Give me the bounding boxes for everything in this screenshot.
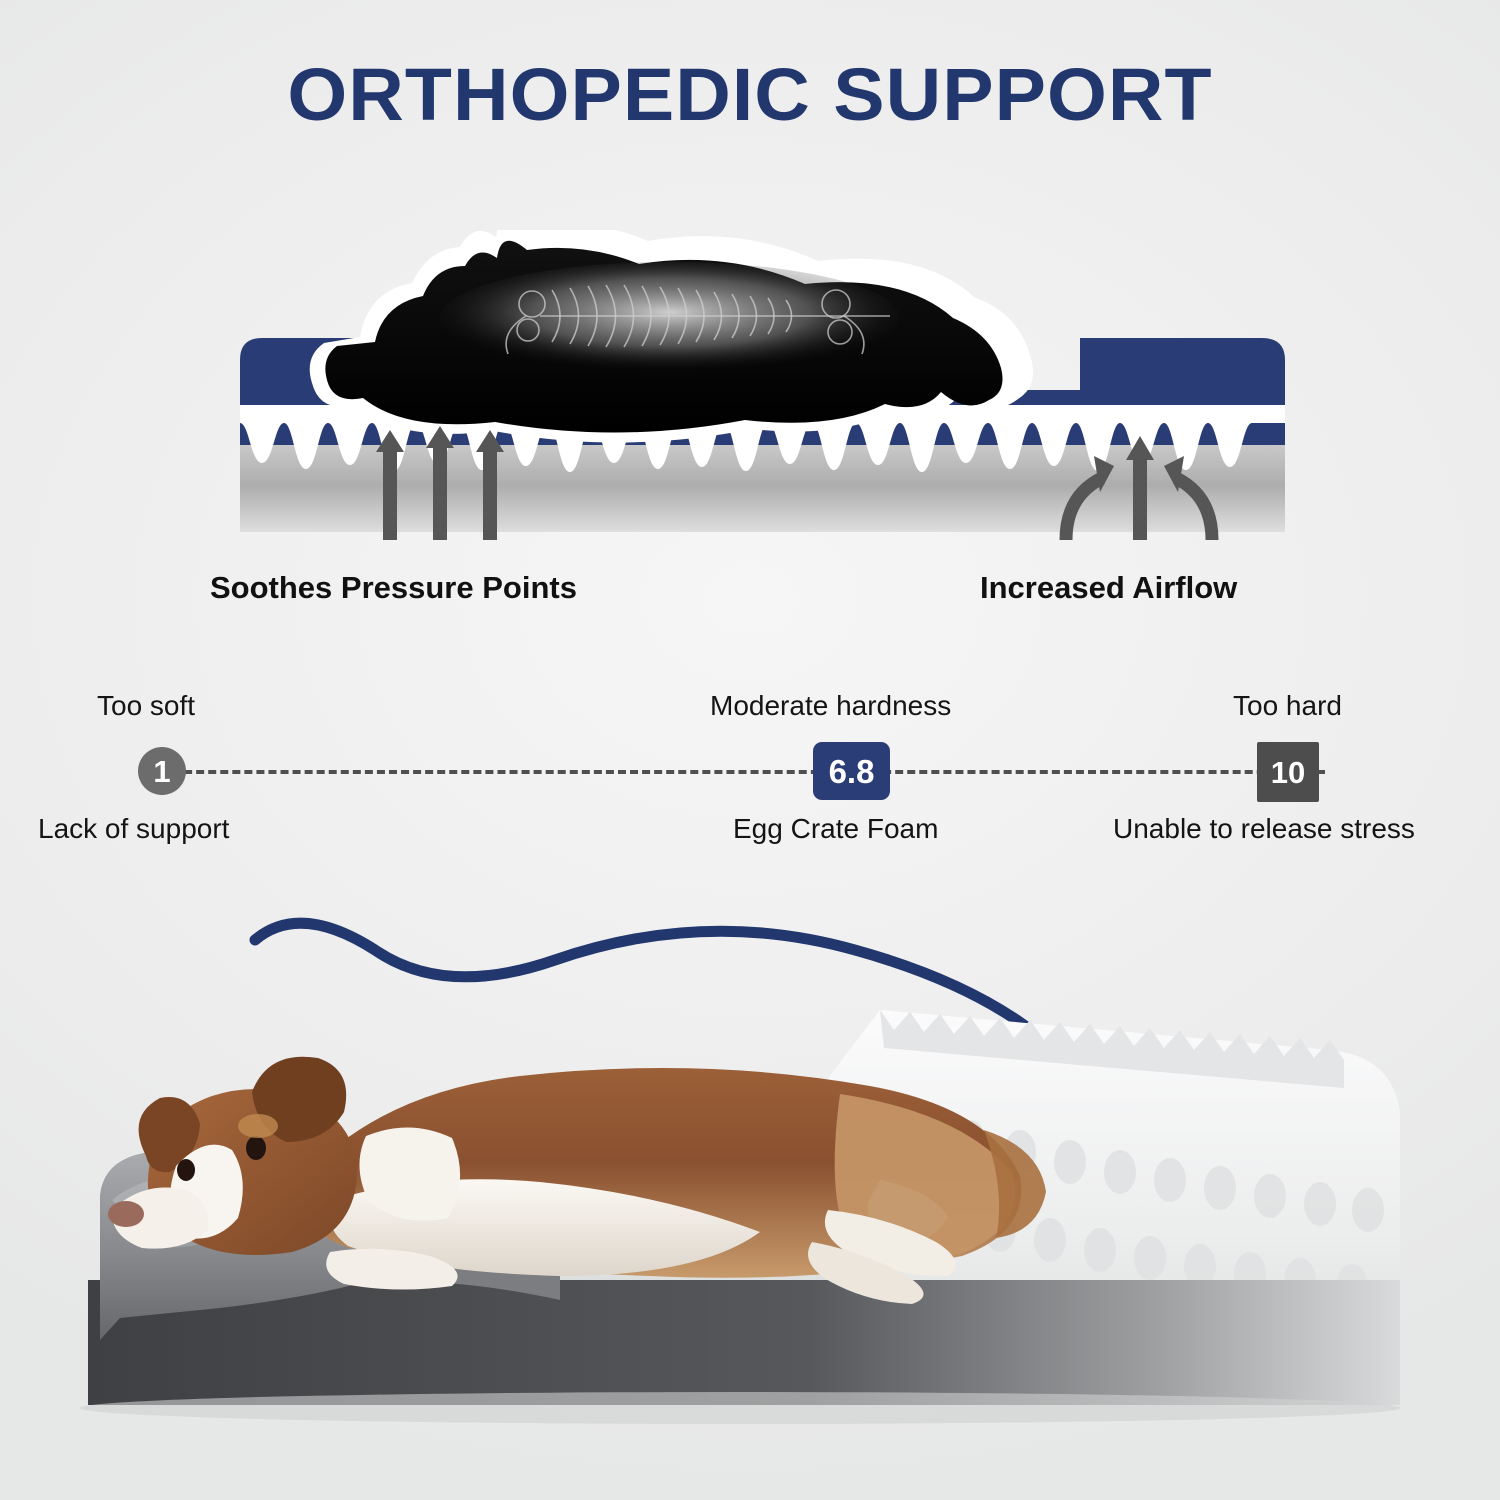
- scale-marker-current: 6.8: [813, 742, 890, 800]
- scale-desc-unable-to-release-stress: Unable to release stress: [1113, 813, 1415, 845]
- infographic-canvas: ORTHOPEDIC SUPPORT: [0, 0, 1500, 1500]
- dog-brow-spot: [238, 1114, 278, 1138]
- xray-skeleton-glow: [440, 262, 900, 374]
- foam-cutaway-diagram: [240, 230, 1285, 540]
- scale-marker-max: 10: [1257, 742, 1319, 802]
- dog-eye-right: [246, 1136, 266, 1160]
- pressure-arrows: [376, 426, 504, 540]
- scale-track: [160, 770, 1325, 773]
- ground-shadow: [80, 1392, 1400, 1424]
- scale-marker-min: 1: [138, 747, 186, 795]
- scale-dashed-line: [160, 770, 1325, 774]
- page-title: ORTHOPEDIC SUPPORT: [0, 58, 1500, 132]
- dog-eye-left: [177, 1159, 195, 1181]
- dog-nose: [108, 1201, 144, 1227]
- pressure-points-label: Soothes Pressure Points: [210, 570, 577, 606]
- scale-label-too-hard: Too hard: [1233, 690, 1342, 722]
- scale-desc-lack-of-support: Lack of support: [38, 813, 229, 845]
- scale-label-too-soft: Too soft: [97, 690, 195, 722]
- hardness-scale: Too soft Moderate hardness Too hard 1 6.…: [0, 665, 1500, 885]
- product-photo: [0, 880, 1500, 1500]
- scale-label-moderate-hardness: Moderate hardness: [710, 690, 951, 722]
- airflow-label: Increased Airflow: [980, 570, 1237, 606]
- scale-desc-egg-crate-foam: Egg Crate Foam: [733, 813, 938, 845]
